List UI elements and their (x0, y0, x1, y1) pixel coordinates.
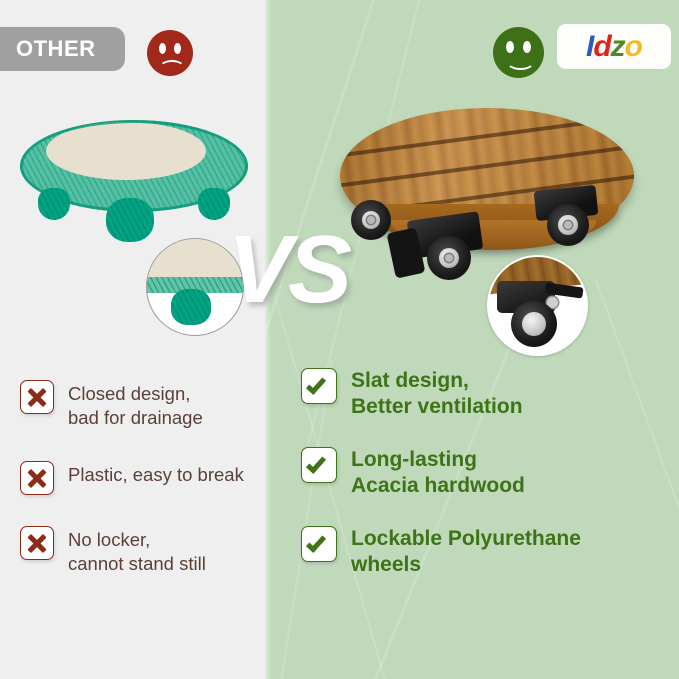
bullet-line: Lockable Polyurethane (351, 526, 581, 552)
check-stroke (306, 374, 326, 395)
x-mark-icon (20, 526, 54, 560)
logo-letter-i: I (586, 32, 593, 62)
lockable-caster-detail-inset (487, 255, 588, 356)
bullet-text: No locker, cannot stand still (68, 526, 206, 576)
caddy-foot-center (106, 198, 154, 242)
brand-logo: Idzo (557, 24, 671, 69)
happy-face-right-eye (523, 41, 531, 53)
bullet-line: Plastic, easy to break (68, 463, 244, 487)
logo-letter-z: z (611, 32, 625, 62)
bullet-line: wheels (351, 552, 581, 578)
comparison-infographic: OTHER (0, 0, 679, 679)
bullet-line: No locker, (68, 528, 206, 552)
panel-divider (265, 0, 271, 679)
list-item: Slat design, Better ventilation (301, 368, 671, 419)
bullet-line: Long-lasting (351, 447, 525, 473)
caster-wheel-left (351, 200, 391, 240)
list-item: Plastic, easy to break (20, 461, 265, 495)
bullet-line: Slat design, (351, 368, 523, 394)
caddy-foot-right (198, 188, 230, 220)
sad-face-right-eye (174, 43, 181, 54)
happy-face-icon (493, 27, 544, 78)
bullet-line: Acacia hardwood (351, 473, 525, 499)
bullet-text: Slat design, Better ventilation (351, 368, 523, 419)
caster-wheel-right (547, 204, 589, 246)
check-mark-icon (301, 368, 337, 404)
bullet-text: Plastic, easy to break (68, 461, 244, 487)
caster-wheel-front (427, 236, 471, 280)
logo-letter-d: d (593, 32, 610, 62)
check-stroke (306, 453, 326, 474)
slat-gap (340, 109, 634, 163)
check-stroke (306, 533, 326, 554)
list-item: No locker, cannot stand still (20, 526, 265, 576)
list-item: Closed design, bad for drainage (20, 380, 265, 430)
bullet-text: Closed design, bad for drainage (68, 380, 203, 430)
right-bullet-list: Slat design, Better ventilation Long-las… (301, 368, 671, 606)
logo-letter-o: o (625, 32, 642, 62)
sad-face-frown (159, 60, 185, 76)
left-comparison-panel: OTHER (0, 0, 265, 679)
x-mark-icon (20, 461, 54, 495)
happy-face-left-eye (506, 41, 514, 53)
x-mark-icon (20, 380, 54, 414)
bullet-line: Better ventilation (351, 394, 523, 420)
plastic-caddy-illustration (12, 112, 257, 247)
bullet-text: Lockable Polyurethane wheels (351, 526, 581, 577)
check-mark-icon (301, 526, 337, 562)
list-item: Long-lasting Acacia hardwood (301, 447, 671, 498)
bullet-text: Long-lasting Acacia hardwood (351, 447, 525, 498)
check-mark-icon (301, 447, 337, 483)
sad-face-icon (147, 30, 193, 76)
versus-label: VS (228, 222, 348, 318)
left-bullet-list: Closed design, bad for drainage Plastic,… (20, 380, 265, 607)
bullet-line: Closed design, (68, 382, 203, 406)
sad-face-left-eye (159, 43, 166, 54)
bullet-line: bad for drainage (68, 406, 203, 430)
other-badge: OTHER (0, 27, 125, 71)
happy-face-smile (506, 52, 535, 70)
inset-caster-wheel (511, 301, 557, 347)
bullet-line: cannot stand still (68, 552, 206, 576)
caddy-foot-left (38, 188, 70, 220)
inset-foot-knob (171, 289, 211, 325)
list-item: Lockable Polyurethane wheels (301, 526, 671, 577)
other-badge-label: OTHER (16, 36, 96, 62)
